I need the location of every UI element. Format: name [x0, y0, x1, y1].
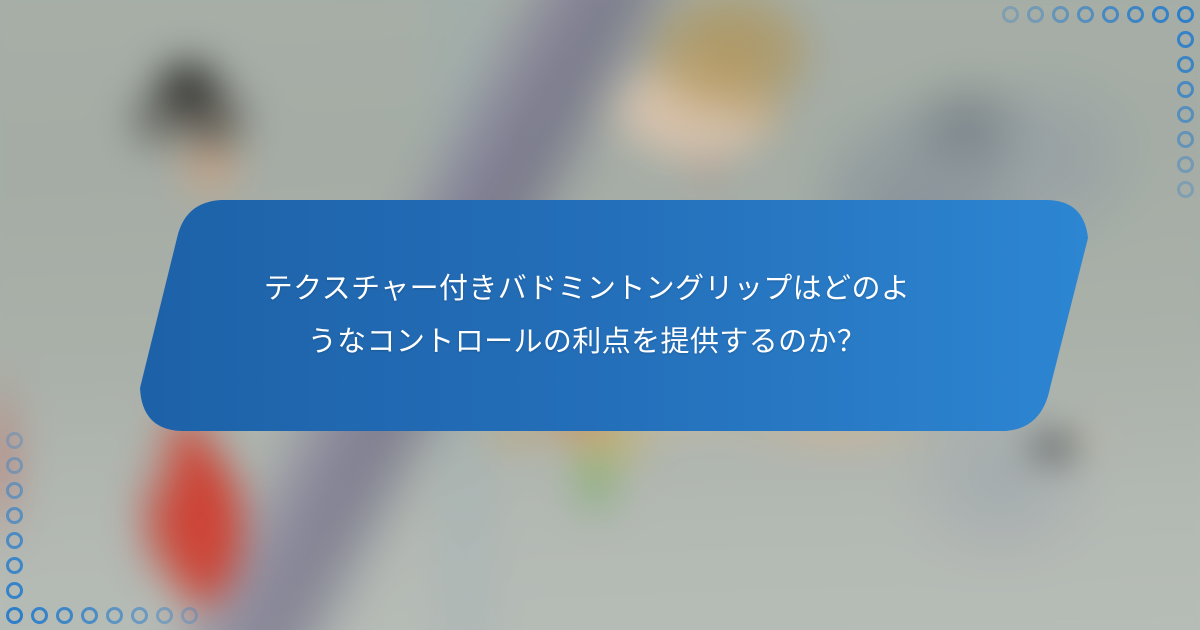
headline-line-2: うなコントロールの利点を提供するのか？ [308, 316, 867, 369]
headline-line-1: テクスチャー付きバドミントングリップはどのよ [264, 263, 911, 316]
share-card: テクスチャー付きバドミントングリップはどのよ うなコントロールの利点を提供するの… [0, 0, 1200, 630]
headline-text-block: テクスチャー付きバドミントングリップはどのよ うなコントロールの利点を提供するの… [98, 198, 1090, 434]
headline-banner: テクスチャー付きバドミントングリップはどのよ うなコントロールの利点を提供するの… [98, 198, 1090, 434]
